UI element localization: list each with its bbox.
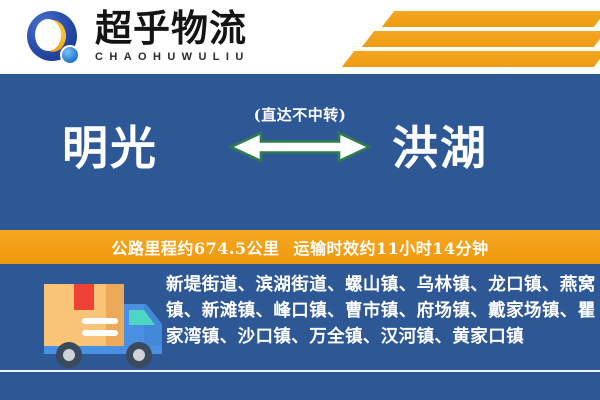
coverage-line-1: 新堤街道、滨湖街道、螺山镇、乌林镇、龙口镇、燕窝	[166, 272, 586, 298]
distance-text: 公路里程约674.5公里	[111, 235, 279, 259]
logo-accent-dot	[60, 45, 80, 65]
stripe-3	[342, 51, 600, 67]
poster-header: 超乎物流 CHAOHUWULIU	[0, 0, 600, 74]
duration-text: 运输时效约11小时14分钟	[294, 235, 489, 259]
destination-city-label: 洪湖	[392, 120, 488, 176]
logistics-route-poster: 超乎物流 CHAOHUWULIU 明光 (直达不中转) 【往返运输】 洪湖 公路…	[0, 0, 600, 400]
header-stripes-decoration	[330, 0, 600, 74]
logo-crescent-cutout	[35, 19, 61, 51]
bidirectional-arrow-icon	[225, 129, 375, 165]
coverage-line-3: 家湾镇、沙口镇、万全镇、汉河镇、黄家口镇	[166, 324, 586, 350]
chaohu-circle-logo-icon	[27, 11, 83, 67]
origin-city-label: 明光	[62, 120, 158, 176]
delivery-truck-icon	[26, 276, 172, 372]
coverage-area-list: 新堤街道、滨湖街道、螺山镇、乌林镇、龙口镇、燕窝 镇、新滩镇、峰口镇、曹市镇、府…	[166, 272, 586, 350]
distance-duration-banner: 公路里程约674.5公里 运输时效约11小时14分钟	[0, 230, 600, 264]
route-note-direct: (直达不中转)	[225, 104, 375, 125]
stripe-1	[382, 11, 600, 27]
coverage-line-2: 镇、新滩镇、峰口镇、曹市镇、府场镇、戴家场镇、瞿	[166, 298, 586, 324]
route-middle-group: (直达不中转) 【往返运输】	[225, 104, 375, 165]
route-hero-section: 明光 (直达不中转) 【往返运输】 洪湖	[0, 74, 600, 230]
coverage-section: 新堤街道、滨湖街道、螺山镇、乌林镇、龙口镇、燕窝 镇、新滩镇、峰口镇、曹市镇、府…	[0, 264, 600, 400]
brand-name-cn: 超乎物流	[95, 8, 250, 48]
brand-name-en: CHAOHUWULIU	[95, 51, 250, 63]
stripe-2	[362, 31, 600, 47]
brand-block: 超乎物流 CHAOHUWULIU	[95, 8, 250, 63]
footer-divider	[0, 370, 600, 372]
